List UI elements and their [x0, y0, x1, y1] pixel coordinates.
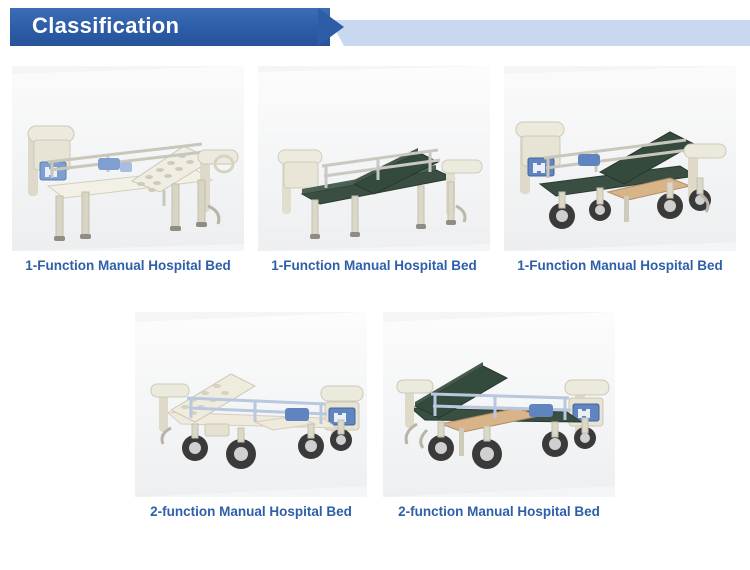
- product-image-1: [12, 66, 244, 251]
- manual-hospital-bed-photo: [383, 312, 615, 497]
- page-header: Classification: [0, 0, 750, 52]
- manual-hospital-bed-photo: [258, 66, 490, 251]
- manual-hospital-bed-photo: [12, 66, 244, 251]
- product-caption-3: 1-Function Manual Hospital Bed: [504, 251, 736, 273]
- product-card-2[interactable]: 1-Function Manual Hospital Bed: [258, 66, 490, 273]
- product-caption-5: 2-function Manual Hospital Bed: [383, 497, 615, 519]
- page-title: Classification: [32, 13, 179, 39]
- product-image-2: [258, 66, 490, 251]
- product-card-1[interactable]: 1-Function Manual Hospital Bed: [12, 66, 244, 273]
- manual-hospital-bed-photo: [135, 312, 367, 497]
- product-caption-2: 1-Function Manual Hospital Bed: [258, 251, 490, 273]
- product-card-4[interactable]: 2-function Manual Hospital Bed: [135, 312, 367, 519]
- product-image-5: [383, 312, 615, 497]
- product-caption-1: 1-Function Manual Hospital Bed: [12, 251, 244, 273]
- product-card-5[interactable]: 2-function Manual Hospital Bed: [383, 312, 615, 519]
- header-arrow-shape: [318, 8, 344, 46]
- product-caption-4: 2-function Manual Hospital Bed: [135, 497, 367, 519]
- header-sweep-shape: [330, 20, 750, 46]
- manual-hospital-bed-photo: [504, 66, 736, 251]
- product-image-3: [504, 66, 736, 251]
- product-card-3[interactable]: 1-Function Manual Hospital Bed: [504, 66, 736, 273]
- product-image-4: [135, 312, 367, 497]
